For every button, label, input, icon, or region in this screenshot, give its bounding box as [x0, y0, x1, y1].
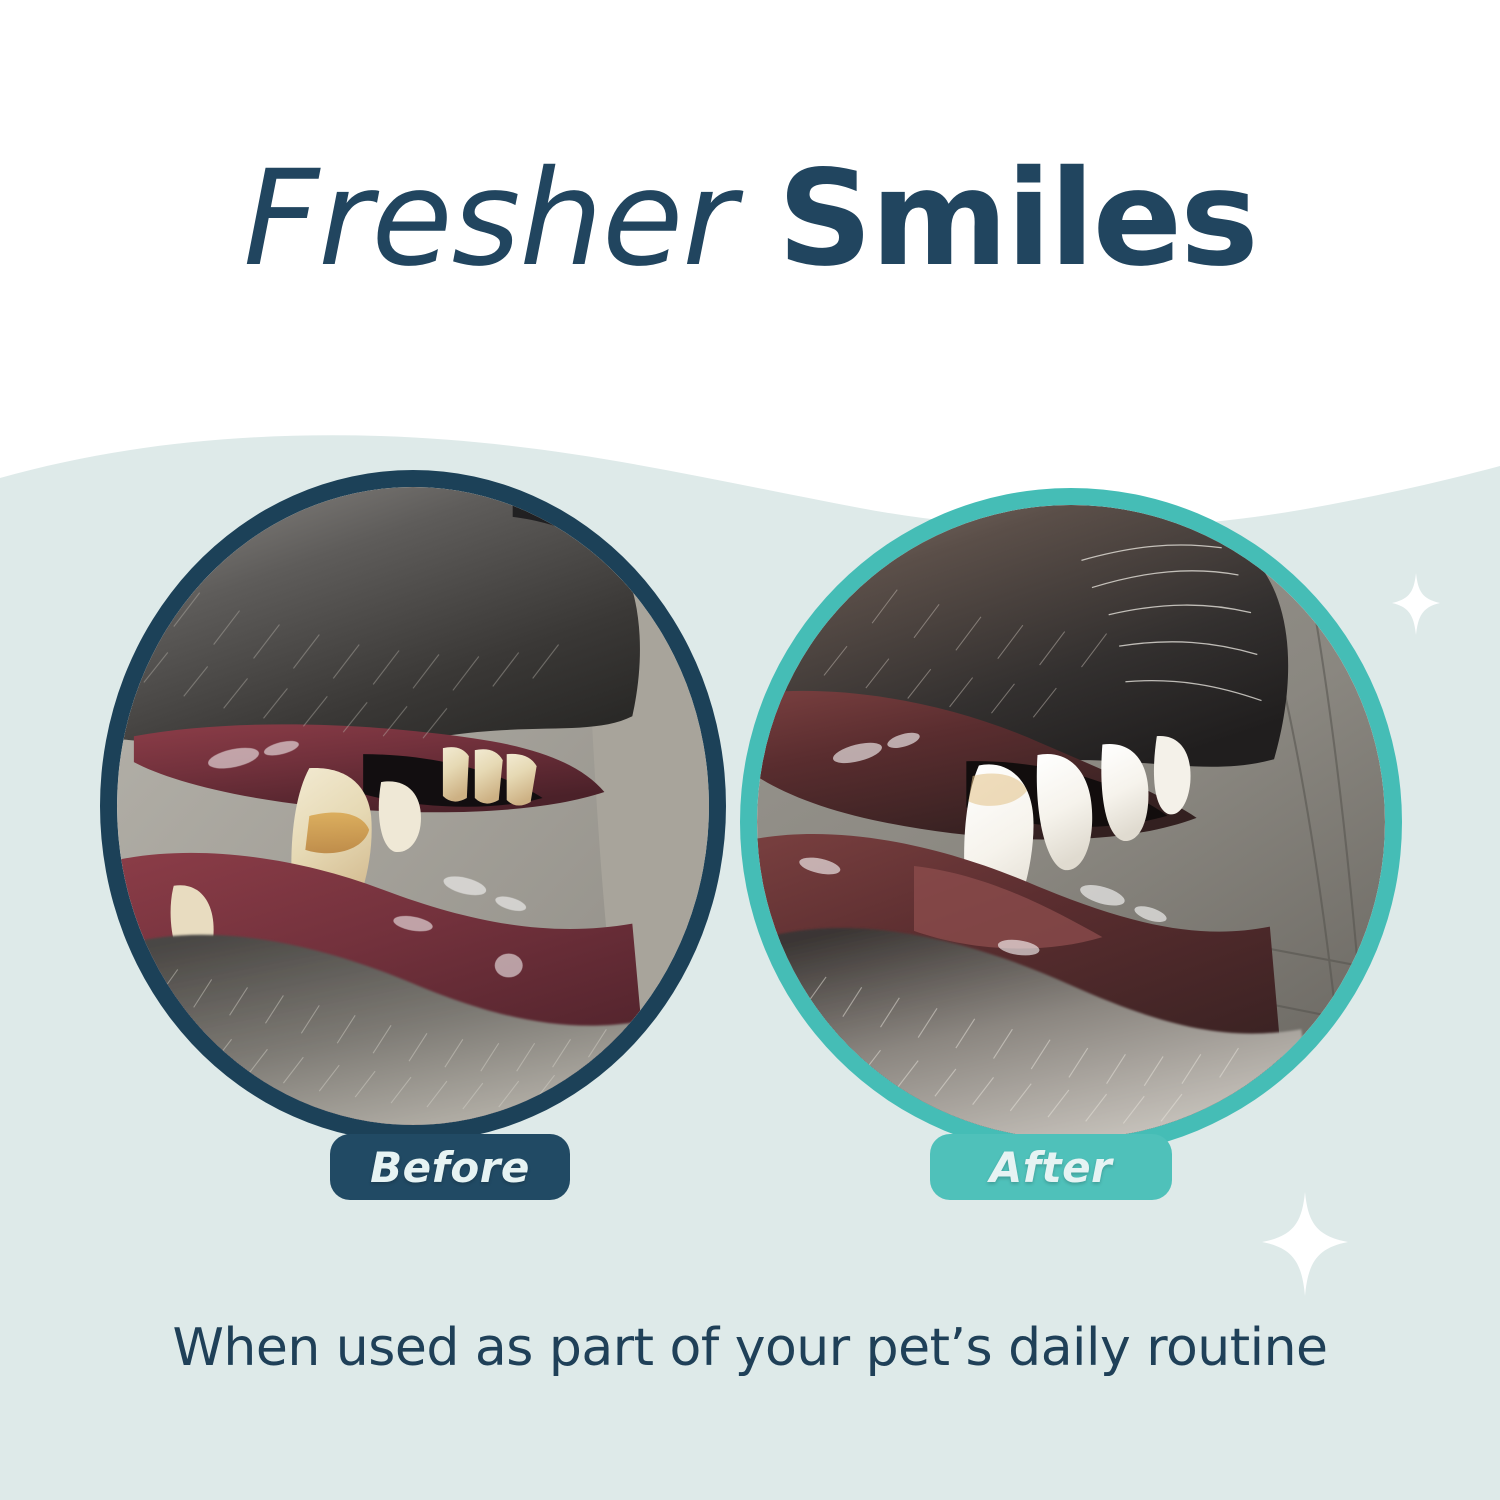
- after-badge-label: After: [990, 1143, 1113, 1192]
- page-title: Fresher Smiles: [0, 150, 1500, 289]
- sparkle-star-icon: [1392, 573, 1440, 635]
- before-badge: Before: [330, 1134, 570, 1200]
- after-badge: After: [930, 1134, 1172, 1200]
- before-photo-circle: [100, 470, 726, 1142]
- before-badge-label: Before: [370, 1143, 530, 1192]
- after-photo-circle: [740, 488, 1402, 1156]
- title-word-light: Fresher: [243, 142, 735, 296]
- before-dog-mouth-illustration: [117, 487, 709, 1125]
- promo-graphic: Fresher Smiles: [0, 0, 1500, 1500]
- sparkle-star-icon: [1262, 1192, 1348, 1296]
- before-photo: [117, 487, 709, 1125]
- title-word-bold: Smiles: [778, 142, 1257, 296]
- caption-text: When used as part of your pet’s daily ro…: [0, 1318, 1500, 1378]
- after-dog-mouth-illustration: [757, 505, 1385, 1139]
- after-photo: [757, 505, 1385, 1139]
